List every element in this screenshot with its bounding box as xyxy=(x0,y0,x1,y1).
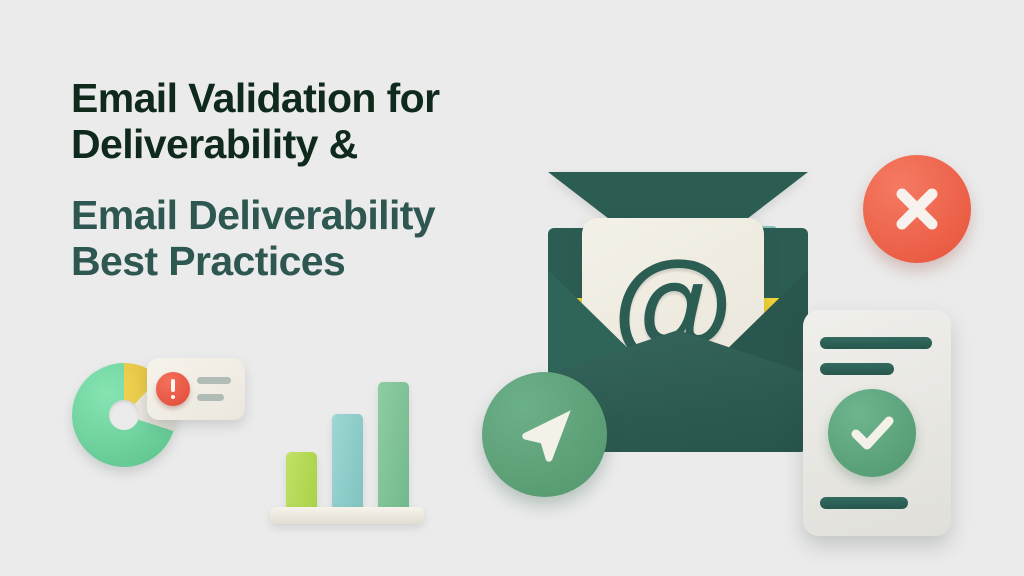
send-paper-plane-badge xyxy=(482,372,607,497)
illustration-canvas: Email Validation for Deliverability & Em… xyxy=(0,0,1024,576)
mini-bar xyxy=(378,382,409,512)
donut-chart-graphic xyxy=(72,358,262,473)
verified-document-card xyxy=(803,310,951,536)
page-title-secondary: Email Deliverability Best Practices xyxy=(71,193,511,285)
mini-bar xyxy=(286,452,317,512)
close-x-icon xyxy=(888,180,946,238)
document-line xyxy=(820,363,894,375)
document-line xyxy=(820,337,932,349)
error-cross-badge xyxy=(863,155,971,263)
headline-block: Email Validation for Deliverability & Em… xyxy=(71,76,511,285)
alert-card-line xyxy=(197,377,231,384)
donut-hole xyxy=(109,400,139,430)
paper-plane-icon xyxy=(512,402,578,468)
check-icon xyxy=(844,405,900,461)
alert-exclamation-icon xyxy=(156,372,190,406)
check-badge xyxy=(828,389,916,477)
page-title-primary: Email Validation for Deliverability & xyxy=(71,76,511,168)
mini-bar xyxy=(332,414,363,512)
mini-bar-chart-base xyxy=(270,507,424,524)
alert-bang-dot xyxy=(171,395,175,399)
email-illustration: @ xyxy=(470,150,1024,576)
mini-bar-chart-graphic xyxy=(270,378,430,524)
document-line xyxy=(820,497,908,509)
alert-bang-stem xyxy=(171,379,175,392)
alert-card-line xyxy=(197,394,224,401)
alert-card xyxy=(147,358,245,420)
